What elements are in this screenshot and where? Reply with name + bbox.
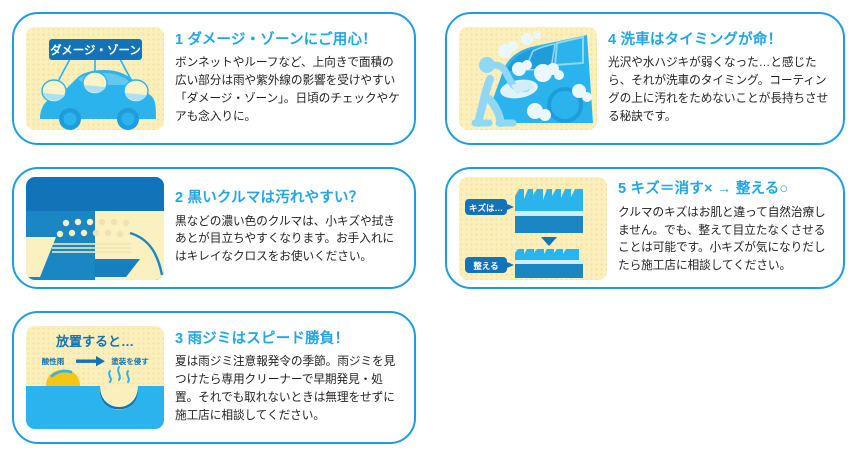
card-5-title: 5 キズ＝消す× → 整える○ xyxy=(618,181,831,198)
card-3-text-column: 3 雨ジミはスピード勝負！ 夏は雨ジミ注意報発令の季節。雨ジミを見つけたら専用ク… xyxy=(175,331,402,425)
paint-damage-label: 塗装を侵す xyxy=(111,356,149,366)
tips-board: ダメージ・ゾーン 1 ダメージ・ゾーンにご用心！ ボンネットやルーフなど、上向き… xyxy=(0,0,860,459)
card-scratch-diagram-illustration: キズは… 整える xyxy=(459,177,607,280)
card-3-body: 夏は雨ジミ注意報発令の季節。雨ジミを見つけたら専用クリーナーで早期発見・処置。そ… xyxy=(175,353,402,424)
card-3-title: 3 雨ジミはスピード勝負！ xyxy=(175,331,402,348)
rain-heading-label: 放置すると… xyxy=(55,334,134,349)
card-1-text-column: 1 ダメージ・ゾーンにご用心！ ボンネットやルーフなど、上向きで面積の広い部分は… xyxy=(175,32,402,126)
card-1-title: 1 ダメージ・ゾーンにご用心！ xyxy=(175,32,402,49)
acid-rain-label: 酸性雨 xyxy=(42,356,65,366)
arrow-right-icon xyxy=(76,356,105,366)
card-rain-spot-illustration: 放置すると… 酸性雨 塗装を侵す xyxy=(26,326,164,429)
card-1-body: ボンネットやルーフなど、上向きで面積の広い部分は雨や紫外線の影響を受けやすい「ダ… xyxy=(175,54,402,125)
card-4-body: 光沢や水ハジキが弱くなった…と感じたら、それが洗車のタイミング。コーティングの上… xyxy=(608,54,831,125)
card-5-text-column: 5 キズ＝消す× → 整える○ クルマのキズはお肌と違って自然治療しません。でも… xyxy=(618,181,831,275)
damage-zone-label: ダメージ・ゾーン xyxy=(50,43,141,57)
tip-card-4[interactable]: 4 洗車はタイミングが命！ 光沢や水ハジキが弱くなった…と感じたら、それが洗車の… xyxy=(445,12,845,145)
scratch-label: キズは… xyxy=(469,203,503,213)
card-damage-zone-illustration: ダメージ・ゾーン xyxy=(26,27,164,130)
card-2-title: 2 黒いクルマは汚れやすい？ xyxy=(175,190,402,207)
smooth-label: 整える xyxy=(473,261,498,271)
card-4-title: 4 洗車はタイミングが命！ xyxy=(608,32,831,49)
tip-card-2[interactable]: 2 黒いクルマは汚れやすい？ 黒などの濃い色のクルマは、小キズや拭きあとが目立ち… xyxy=(12,167,416,289)
card-4-text-column: 4 洗車はタイミングが命！ 光沢や水ハジキが弱くなった…と感じたら、それが洗車の… xyxy=(608,32,831,126)
card-car-wash-illustration xyxy=(459,27,597,130)
tip-card-1[interactable]: ダメージ・ゾーン 1 ダメージ・ゾーンにご用心！ ボンネットやルーフなど、上向き… xyxy=(12,12,416,145)
card-2-body: 黒などの濃い色のクルマは、小キズや拭きあとが目立ちやすくなります。お手入れにはキ… xyxy=(175,213,402,266)
card-2-text-column: 2 黒いクルマは汚れやすい？ 黒などの濃い色のクルマは、小キズや拭きあとが目立ち… xyxy=(175,190,402,266)
tip-card-5[interactable]: キズは… 整える 5 キズ＝消す× → 整える○ クルマのキズはお肌と違って自然… xyxy=(445,167,845,289)
tip-card-3[interactable]: 放置すると… 酸性雨 塗装を侵す xyxy=(12,311,416,444)
card-5-body: クルマのキズはお肌と違って自然治療しません。でも、整えて目立たなくさせることは可… xyxy=(618,204,831,275)
card-dark-car-illustration xyxy=(26,177,164,280)
